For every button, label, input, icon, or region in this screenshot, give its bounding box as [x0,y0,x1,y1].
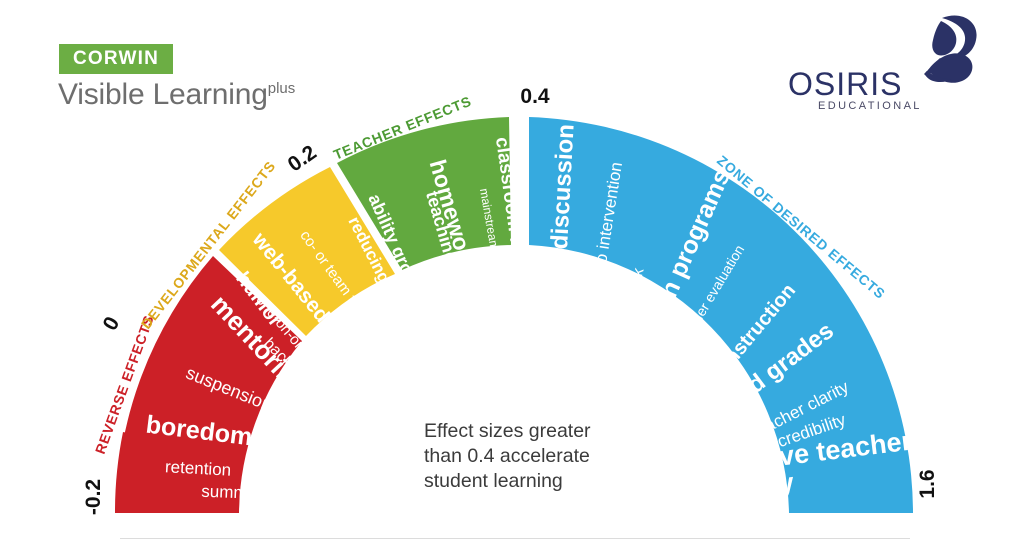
item-lack-of-sleep: lack of sleep [246,448,348,478]
tick-label-minus-0-2: -0.2 [82,479,105,515]
item-retention: retention [165,458,232,480]
bottom-divider [120,538,910,539]
center-note-line-1: Effect sizes greater [424,419,634,444]
tick-label-1-6: 1.6 [916,469,939,498]
tick-label-0: 0 [98,313,124,335]
center-note-line-2: than 0.4 accelerate [424,444,634,469]
tick-label-0-2: 0.2 [284,141,321,177]
tick-label-0-4: 0.4 [520,85,550,108]
barometer-infographic: CORWIN Visible Learningplus OSIRIS EDUCA… [0,0,1024,542]
center-note-line-3: student learning [424,469,634,494]
center-note: Effect sizes greater than 0.4 accelerate… [424,419,634,494]
